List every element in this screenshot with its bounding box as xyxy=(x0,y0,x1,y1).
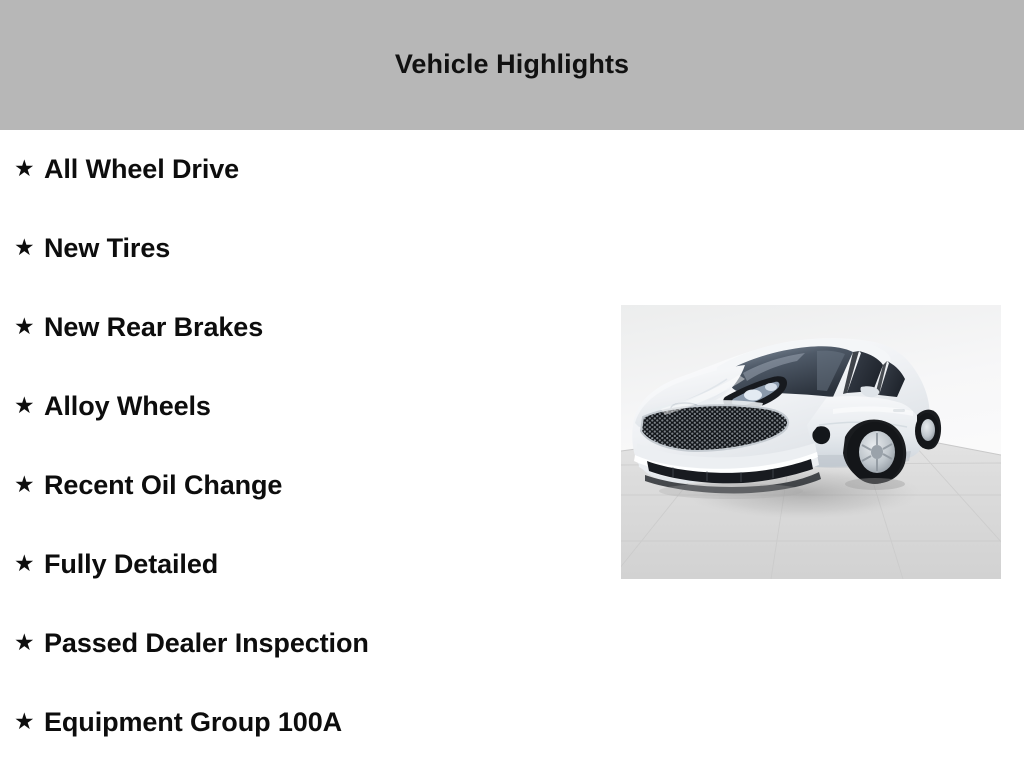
list-item: ★ Equipment Group 100A xyxy=(0,683,600,762)
star-icon: ★ xyxy=(14,394,44,417)
list-item: ★ Passed Dealer Inspection xyxy=(0,604,600,683)
list-item: ★ Recent Oil Change xyxy=(0,446,600,525)
highlight-label: Recent Oil Change xyxy=(44,470,282,501)
page-title: Vehicle Highlights xyxy=(0,48,1024,80)
highlight-label: All Wheel Drive xyxy=(44,154,239,185)
header-band: Vehicle Highlights xyxy=(0,0,1024,130)
highlight-label: New Tires xyxy=(44,233,170,264)
star-icon: ★ xyxy=(14,236,44,259)
star-icon: ★ xyxy=(14,157,44,180)
rear-wheel-rim xyxy=(921,419,935,441)
list-item: ★ Fully Detailed xyxy=(0,525,600,604)
star-icon: ★ xyxy=(14,473,44,496)
highlight-label: Fully Detailed xyxy=(44,549,218,580)
list-item: ★ New Rear Brakes xyxy=(0,288,600,367)
highlight-label: Passed Dealer Inspection xyxy=(44,628,369,659)
vehicle-photo xyxy=(621,305,1001,579)
star-icon: ★ xyxy=(14,710,44,733)
star-icon: ★ xyxy=(14,631,44,654)
list-item: ★ New Tires xyxy=(0,209,600,288)
highlight-label: Alloy Wheels xyxy=(44,391,211,422)
vehicle-photo-image xyxy=(621,305,1001,579)
list-item: ★ All Wheel Drive xyxy=(0,130,600,209)
vehicle-highlights-list: ★ All Wheel Drive ★ New Tires ★ New Rear… xyxy=(0,130,600,762)
list-item: ★ Alloy Wheels xyxy=(0,367,600,446)
highlight-label: New Rear Brakes xyxy=(44,312,263,343)
star-icon: ★ xyxy=(14,552,44,575)
star-icon: ★ xyxy=(14,315,44,338)
highlight-label: Equipment Group 100A xyxy=(44,707,342,738)
